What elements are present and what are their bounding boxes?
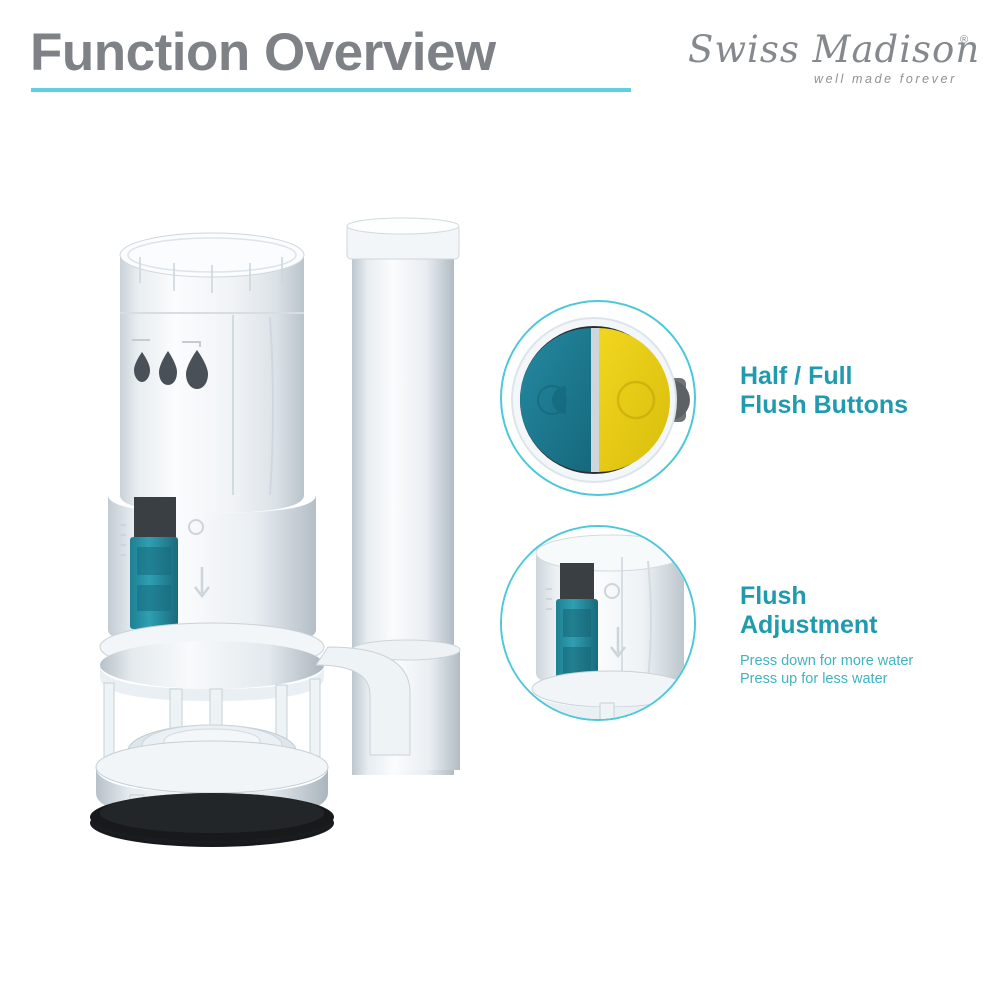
product-image-dual-flush-valve [70,195,490,855]
brand-logo: Swiss Madison ® well made forever [688,28,978,98]
callout-flush-adjustment: Flush Adjustment Press down for more wat… [495,525,995,735]
callout-circle-flush-buttons [500,300,696,496]
function-overview-page: Function Overview Swiss Madison ® well m… [0,0,1000,1000]
valve-base-cage [90,623,334,847]
brand-name: Swiss Madison [688,28,980,71]
callout-1-title: Half / Full Flush Buttons [740,362,908,419]
callout-2-subtitle: Press down for more water Press up for l… [740,653,913,688]
registered-trademark-icon: ® [960,34,968,46]
page-header: Function Overview Swiss Madison ® well m… [0,0,1000,110]
callout-circle-flush-adjustment [500,525,696,721]
callout-half-full-flush-buttons: Half / Full Flush Buttons [495,300,995,500]
title-underline [31,88,631,92]
dark-indicator-panel [560,563,594,605]
callout-2-title: Flush Adjustment [740,582,878,639]
dark-indicator-panel [134,497,176,539]
flush-adjustment-slider [130,537,178,629]
page-title: Function Overview [30,22,496,83]
brand-tagline: well made forever [814,72,957,86]
